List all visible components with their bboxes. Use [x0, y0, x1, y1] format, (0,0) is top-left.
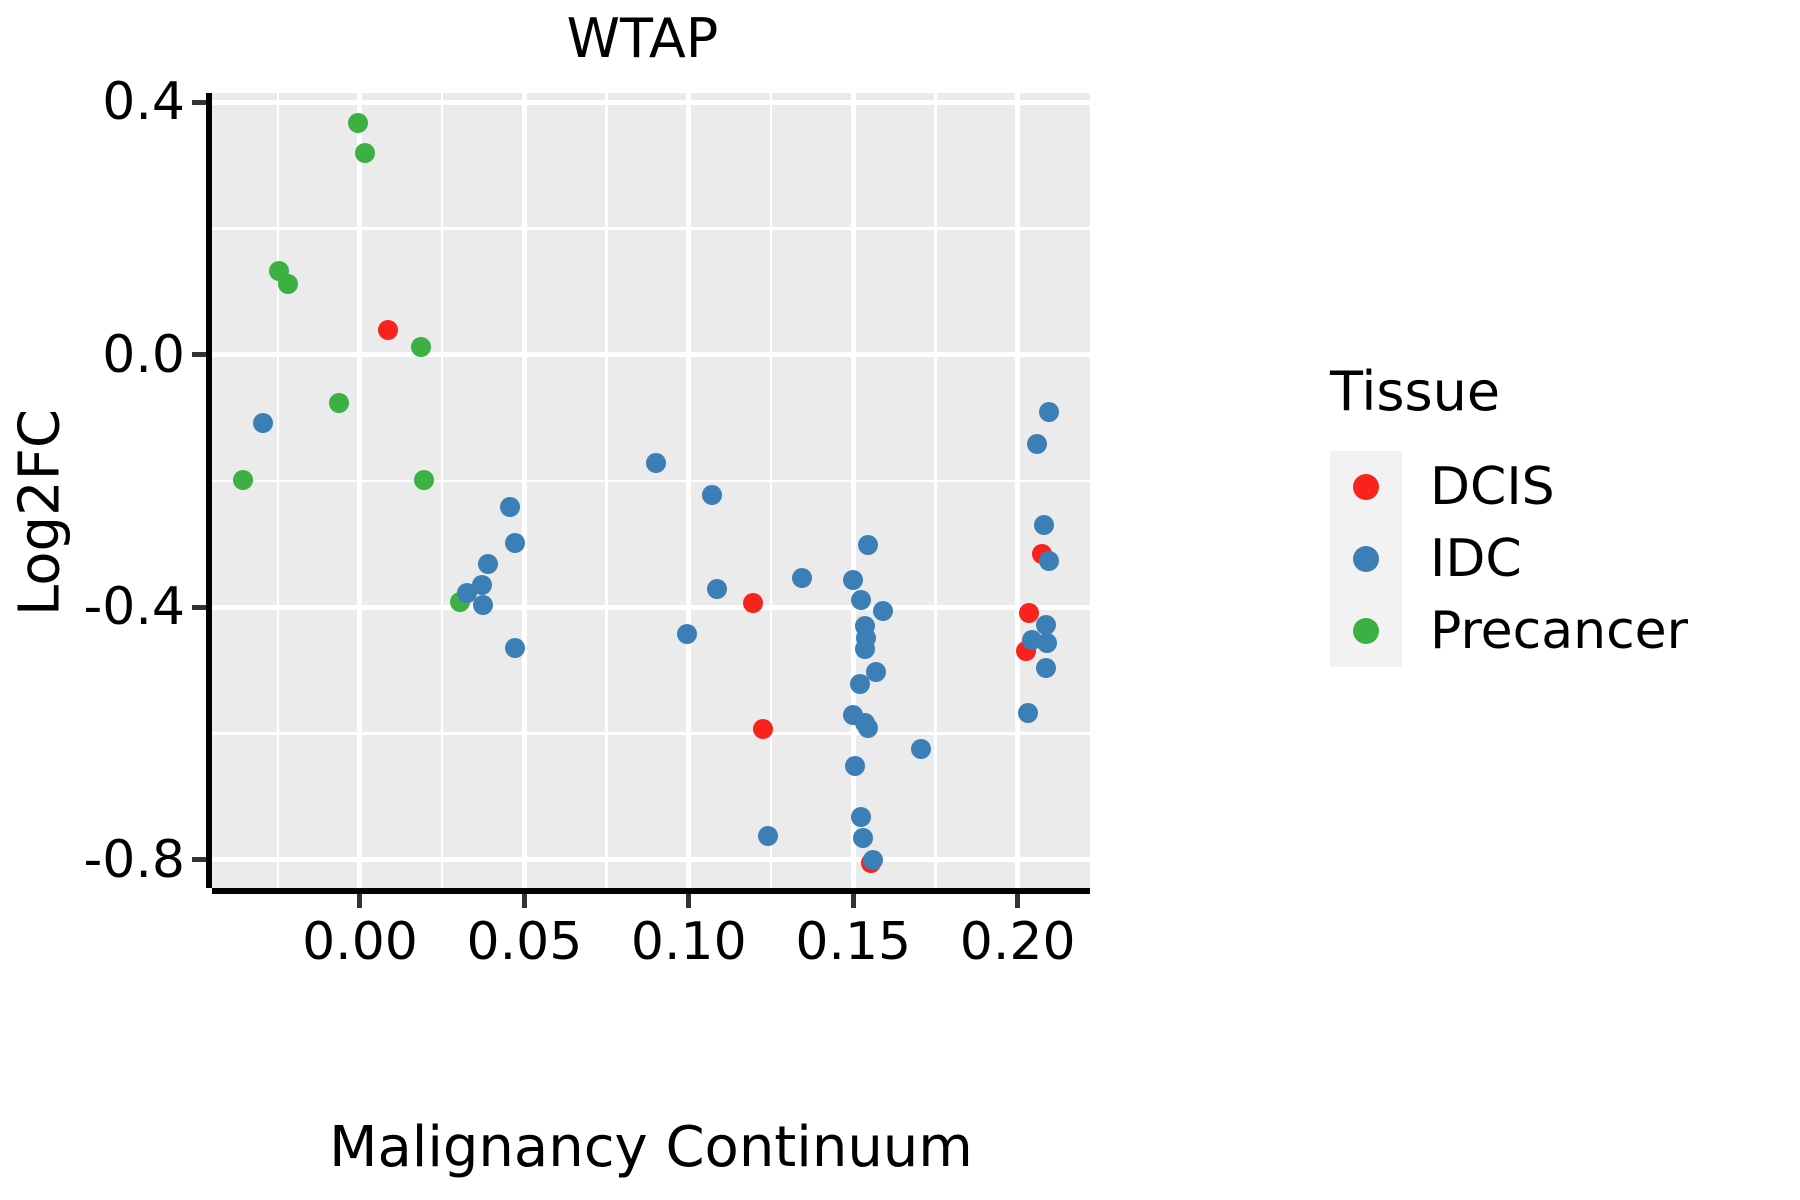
- y-tick-label: 0.4: [102, 72, 185, 132]
- x-tick-mark: [851, 894, 856, 908]
- data-point-idc: [758, 826, 778, 846]
- data-point-idc: [707, 579, 727, 599]
- data-point-dcis: [753, 719, 773, 739]
- y-tick-mark: [192, 857, 206, 862]
- data-point-idc: [1018, 703, 1038, 723]
- y-tick-mark: [192, 352, 206, 357]
- legend: Tissue DCISIDCPrecancer: [1330, 360, 1770, 667]
- data-point-precancer: [414, 470, 434, 490]
- gridline-y-minor: [212, 480, 1090, 483]
- data-point-idc: [843, 570, 863, 590]
- data-point-idc: [702, 485, 722, 505]
- gridline-y-major: [212, 352, 1090, 357]
- gridline-y-major: [212, 100, 1090, 105]
- y-tick-mark: [192, 605, 206, 610]
- data-point-idc: [858, 535, 878, 555]
- gridline-y-minor: [212, 227, 1090, 230]
- data-point-precancer: [348, 113, 368, 133]
- data-point-idc: [505, 638, 525, 658]
- legend-entry-idc[interactable]: IDC: [1330, 523, 1770, 595]
- data-point-idc: [850, 674, 870, 694]
- data-point-idc: [845, 756, 865, 776]
- gridline-x-major: [1015, 93, 1020, 888]
- data-point-dcis: [378, 320, 398, 340]
- legend-entry-dcis[interactable]: DCIS: [1330, 451, 1770, 523]
- legend-dot-icon: [1353, 618, 1379, 644]
- y-axis-label: Log2FC: [8, 303, 73, 723]
- x-tick-mark: [522, 894, 527, 908]
- x-tick-mark: [1015, 894, 1020, 908]
- x-tick-mark: [357, 894, 362, 908]
- x-tick-label: 0.10: [631, 912, 747, 972]
- gridline-y-major: [212, 605, 1090, 610]
- page-title: WTAP: [0, 12, 1285, 66]
- data-point-idc: [1039, 402, 1059, 422]
- data-point-dcis: [743, 593, 763, 613]
- gridline-x-major: [522, 93, 527, 888]
- chart-root: WTAP Log2FC Malignancy Continuum 0.000.0…: [0, 0, 1800, 1200]
- legend-dot-icon: [1353, 474, 1379, 500]
- data-point-idc: [855, 639, 875, 659]
- gridline-x-major: [686, 93, 691, 888]
- data-point-idc: [858, 718, 878, 738]
- data-point-idc: [873, 601, 893, 621]
- data-point-idc: [1034, 515, 1054, 535]
- data-point-precancer: [278, 274, 298, 294]
- gridline-x-minor: [277, 93, 280, 888]
- data-point-idc: [1037, 633, 1057, 653]
- legend-entry-label: IDC: [1430, 529, 1522, 589]
- x-tick-label: 0.05: [467, 912, 583, 972]
- data-point-idc: [853, 828, 873, 848]
- gridline-y-minor: [212, 732, 1090, 735]
- y-tick-label: -0.4: [84, 577, 185, 637]
- data-point-precancer: [355, 143, 375, 163]
- data-point-idc: [478, 554, 498, 574]
- gridline-x-minor: [934, 93, 937, 888]
- x-axis-label: Malignancy Continuum: [212, 1115, 1090, 1180]
- x-tick-label: 0.00: [302, 912, 418, 972]
- data-point-idc: [1027, 434, 1047, 454]
- data-point-precancer: [329, 393, 349, 413]
- y-tick-mark: [192, 100, 206, 105]
- data-point-idc: [851, 807, 871, 827]
- data-point-idc: [1036, 658, 1056, 678]
- legend-entry-label: Precancer: [1430, 601, 1688, 661]
- data-point-idc: [866, 662, 886, 682]
- data-point-idc: [505, 533, 525, 553]
- legend-key-swatch: [1330, 451, 1402, 523]
- gridline-x-major: [357, 93, 362, 888]
- gridline-x-minor: [441, 93, 444, 888]
- data-point-idc: [253, 413, 273, 433]
- legend-title: Tissue: [1330, 360, 1770, 423]
- gridline-x-minor: [770, 93, 773, 888]
- legend-entries: DCISIDCPrecancer: [1330, 451, 1770, 667]
- data-point-idc: [646, 453, 666, 473]
- x-tick-label: 0.20: [960, 912, 1076, 972]
- data-point-precancer: [411, 337, 431, 357]
- legend-dot-icon: [1353, 546, 1379, 572]
- data-point-idc: [792, 568, 812, 588]
- x-tick-mark: [686, 894, 691, 908]
- legend-entry-label: DCIS: [1430, 457, 1555, 517]
- data-point-idc: [500, 497, 520, 517]
- data-point-idc: [911, 739, 931, 759]
- x-axis-line: [212, 888, 1090, 894]
- gridline-x-minor: [605, 93, 608, 888]
- data-point-precancer: [233, 470, 253, 490]
- data-point-idc: [1039, 551, 1059, 571]
- plot-panel: [212, 93, 1090, 888]
- x-tick-label: 0.15: [795, 912, 911, 972]
- legend-key-swatch: [1330, 523, 1402, 595]
- data-point-idc: [677, 624, 697, 644]
- legend-entry-precancer[interactable]: Precancer: [1330, 595, 1770, 667]
- data-point-idc: [473, 595, 493, 615]
- legend-key-swatch: [1330, 595, 1402, 667]
- y-tick-label: -0.8: [84, 830, 185, 890]
- gridline-y-major: [212, 857, 1090, 862]
- y-tick-label: 0.0: [102, 325, 185, 385]
